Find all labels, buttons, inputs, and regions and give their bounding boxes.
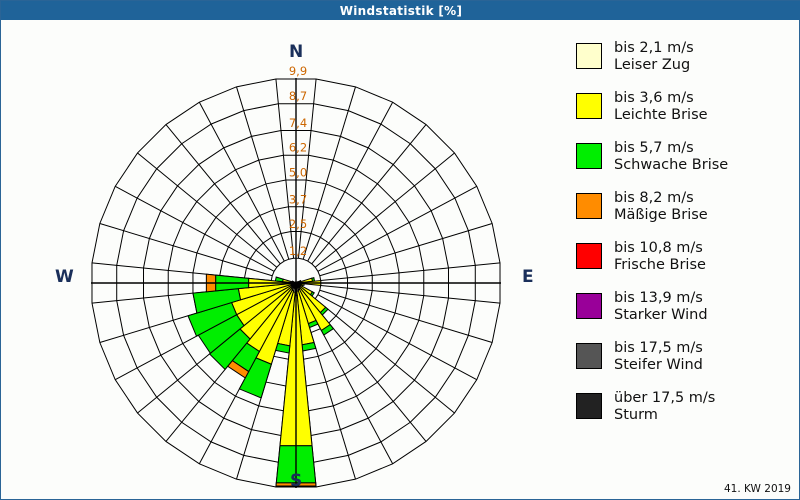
- legend-speed-range: bis 8,2 m/s: [614, 190, 694, 206]
- legend-color-swatch: [576, 43, 602, 69]
- grid-spoke: [100, 223, 272, 275]
- legend-item: über 17,5 m/sSturm: [576, 390, 791, 434]
- wind-rose-petals: [188, 274, 333, 487]
- windstatistik-window: Windstatistik [%] 1,22,53,75,06,27,48,79…: [0, 0, 800, 500]
- polar-axes: [91, 78, 501, 488]
- legend-speed-range: bis 17,5 m/s: [614, 340, 703, 356]
- legend-item-text: bis 17,5 m/sSteifer Wind: [614, 340, 703, 374]
- legend-item-text: über 17,5 m/sSturm: [614, 390, 715, 424]
- grid-spoke: [318, 186, 477, 271]
- legend-speed-range: über 17,5 m/s: [614, 390, 715, 406]
- legend-speed-range: bis 5,7 m/s: [614, 140, 694, 156]
- grid-spoke: [320, 223, 492, 275]
- legend-item: bis 3,6 m/sLeichte Brise: [576, 90, 791, 134]
- grid-spoke: [199, 102, 284, 261]
- legend-color-swatch: [576, 293, 602, 319]
- grid-spoke: [321, 263, 500, 281]
- grid-spoke: [321, 285, 500, 303]
- grid-spoke: [312, 125, 426, 264]
- window-title-bar: Windstatistik [%]: [1, 1, 800, 20]
- legend-speed-range: bis 2,1 m/s: [614, 40, 694, 56]
- legend-item-text: bis 13,9 m/sStarker Wind: [614, 290, 708, 324]
- legend-item: bis 5,7 m/sSchwache Brise: [576, 140, 791, 184]
- wind-rose-chart: 1,22,53,75,06,27,48,79,9 N E S W: [1, 20, 567, 499]
- legend-item-text: bis 5,7 m/sSchwache Brise: [614, 140, 728, 174]
- wind-speed-legend: bis 2,1 m/sLeiser Zugbis 3,6 m/sLeichte …: [576, 40, 791, 440]
- legend-item: bis 13,9 m/sStarker Wind: [576, 290, 791, 334]
- legend-beaufort-name: Leichte Brise: [614, 107, 708, 124]
- legend-color-swatch: [576, 393, 602, 419]
- legend-item: bis 10,8 m/sFrische Brise: [576, 240, 791, 284]
- grid-spoke: [115, 186, 274, 271]
- grid-spoke: [320, 290, 492, 342]
- legend-item-text: bis 2,1 m/sLeiser Zug: [614, 40, 694, 74]
- radial-tick-label: 1,2: [289, 244, 307, 258]
- compass-label-north: N: [289, 42, 303, 62]
- window-content: 1,22,53,75,06,27,48,79,9 N E S W bis 2,1…: [1, 20, 799, 499]
- legend-item-text: bis 10,8 m/sFrische Brise: [614, 240, 706, 274]
- petal-segment: [275, 277, 283, 282]
- grid-spoke: [303, 87, 355, 259]
- legend-color-swatch: [576, 143, 602, 169]
- legend-color-swatch: [576, 93, 602, 119]
- radial-tick-label: 9,9: [289, 64, 307, 78]
- radial-tick-label: 7,4: [289, 116, 307, 130]
- legend-beaufort-name: Leiser Zug: [614, 57, 694, 74]
- window-title: Windstatistik [%]: [340, 4, 463, 18]
- grid-spoke: [315, 299, 454, 413]
- legend-speed-range: bis 3,6 m/s: [614, 90, 694, 106]
- footer-week-label: 41. KW 2019: [724, 483, 791, 495]
- compass-label-west: W: [55, 267, 74, 287]
- legend-color-swatch: [576, 193, 602, 219]
- legend-speed-range: bis 13,9 m/s: [614, 290, 703, 306]
- compass-label-east: E: [522, 267, 534, 287]
- legend-item-text: bis 8,2 m/sMäßige Brise: [614, 190, 708, 224]
- legend-beaufort-name: Mäßige Brise: [614, 207, 708, 224]
- legend-beaufort-name: Schwache Brise: [614, 157, 728, 174]
- legend-color-swatch: [576, 243, 602, 269]
- legend-beaufort-name: Sturm: [614, 407, 715, 424]
- legend-beaufort-name: Frische Brise: [614, 257, 706, 274]
- legend-beaufort-name: Starker Wind: [614, 307, 708, 324]
- grid-spoke: [236, 87, 288, 259]
- compass-label-south: S: [290, 471, 302, 491]
- radial-tick-label: 3,7: [289, 192, 307, 206]
- radial-tick-label: 6,2: [289, 141, 307, 155]
- grid-spoke: [315, 153, 454, 267]
- wind-rose-svg: 1,22,53,75,06,27,48,79,9: [1, 20, 567, 499]
- radial-tick-label: 8,7: [289, 89, 307, 103]
- radial-tick-label: 2,5: [289, 217, 307, 231]
- legend-item: bis 8,2 m/sMäßige Brise: [576, 190, 791, 234]
- legend-color-swatch: [576, 343, 602, 369]
- grid-spoke: [166, 125, 280, 264]
- petal-segment: [292, 281, 293, 282]
- legend-speed-range: bis 10,8 m/s: [614, 240, 703, 256]
- legend-beaufort-name: Steifer Wind: [614, 357, 703, 374]
- legend-item: bis 17,5 m/sSteifer Wind: [576, 340, 791, 384]
- radial-tick-label: 5,0: [289, 165, 307, 179]
- grid-spoke: [308, 102, 393, 261]
- grid-spoke: [138, 153, 277, 267]
- legend-item-text: bis 3,6 m/sLeichte Brise: [614, 90, 708, 124]
- radial-tick-labels: 1,22,53,75,06,27,48,79,9: [289, 64, 307, 258]
- legend-item: bis 2,1 m/sLeiser Zug: [576, 40, 791, 84]
- grid-spoke: [318, 295, 477, 380]
